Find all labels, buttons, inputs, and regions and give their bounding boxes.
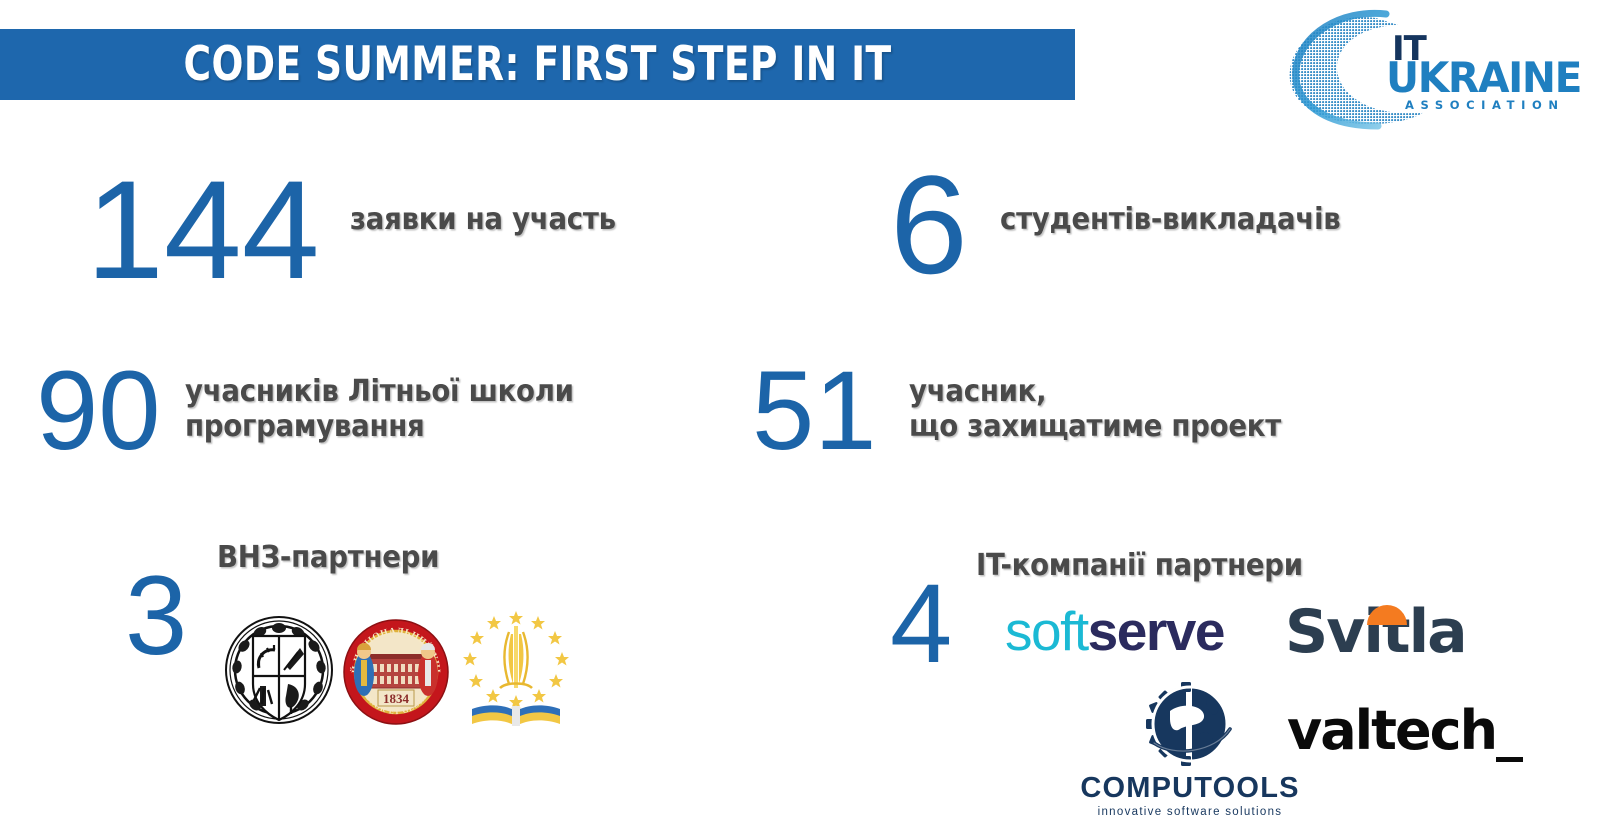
stat-summer-school: 90 учасників Літньої школи програмування	[36, 355, 607, 467]
softserve-logo-part1: soft	[1005, 600, 1088, 662]
logo-text-association: ASSOCIATION	[1405, 100, 1565, 112]
softserve-logo: softserve	[1005, 604, 1224, 659]
kyiv-seal-year: 1834	[383, 691, 410, 706]
logo-text-ukraine: UKRAINE	[1386, 57, 1581, 99]
stat-number-defenders: 51	[752, 355, 877, 467]
computools-gear-globe-icon	[1140, 681, 1240, 767]
stat-defenders: 51 учасник, що захищатиме проект	[752, 355, 1313, 467]
it-ukraine-association-logo: IT UKRAINE ASSOCIATION	[1274, 2, 1594, 130]
stat-number-applications: 144	[86, 160, 320, 300]
uni-seal-monochrome-icon	[222, 610, 336, 733]
stat-label-companies: IT-компанії партнери	[976, 548, 1303, 583]
computools-logo-tagline: innovative software solutions	[1080, 807, 1300, 819]
softserve-logo-part2: serve	[1088, 600, 1224, 662]
svitla-arc-icon	[1364, 603, 1410, 627]
stat-number-student-teachers: 6	[890, 155, 968, 295]
company-partner-logos: softserve Svitla	[990, 596, 1510, 831]
uni-seal-kyiv-icon: КИЇВСЬКИЙ НАЦІОНАЛЬНИЙ УНІВЕРСИТЕТ HONOR…	[342, 616, 450, 733]
uni-seal-torch-icon	[456, 604, 576, 733]
computools-logo: COMPUTOOLS innovative software solutions	[1080, 681, 1300, 819]
computools-logo-text: COMPUTOOLS	[1080, 774, 1300, 803]
university-partner-logos: КИЇВСЬКИЙ НАЦІОНАЛЬНИЙ УНІВЕРСИТЕТ HONOR…	[222, 604, 576, 733]
page-title: CODE SUMMER: FIRST STEP IN IT	[183, 41, 891, 88]
svitla-logo: Svitla	[1285, 602, 1485, 674]
valtech-logo: valtech_	[1287, 704, 1521, 758]
stat-label-applications: заявки на участь	[350, 202, 616, 237]
stat-label-student-teachers: студентів-викладачів	[1000, 202, 1340, 237]
stat-label-summer-school: учасників Літньої школи програмування	[185, 374, 574, 444]
stat-applications: 144 заявки на участь	[86, 160, 639, 300]
stat-number-universities: 3	[125, 560, 187, 672]
stat-label-universities: ВНЗ-партнери	[217, 540, 439, 575]
stat-student-teachers: 6 студентів-викладачів	[890, 155, 1370, 295]
header-banner: CODE SUMMER: FIRST STEP IN IT	[0, 29, 1075, 100]
stat-label-defenders: учасник, що захищатиме проект	[909, 374, 1281, 444]
stat-number-companies: 4	[890, 568, 952, 680]
stat-number-summer-school: 90	[36, 355, 161, 467]
